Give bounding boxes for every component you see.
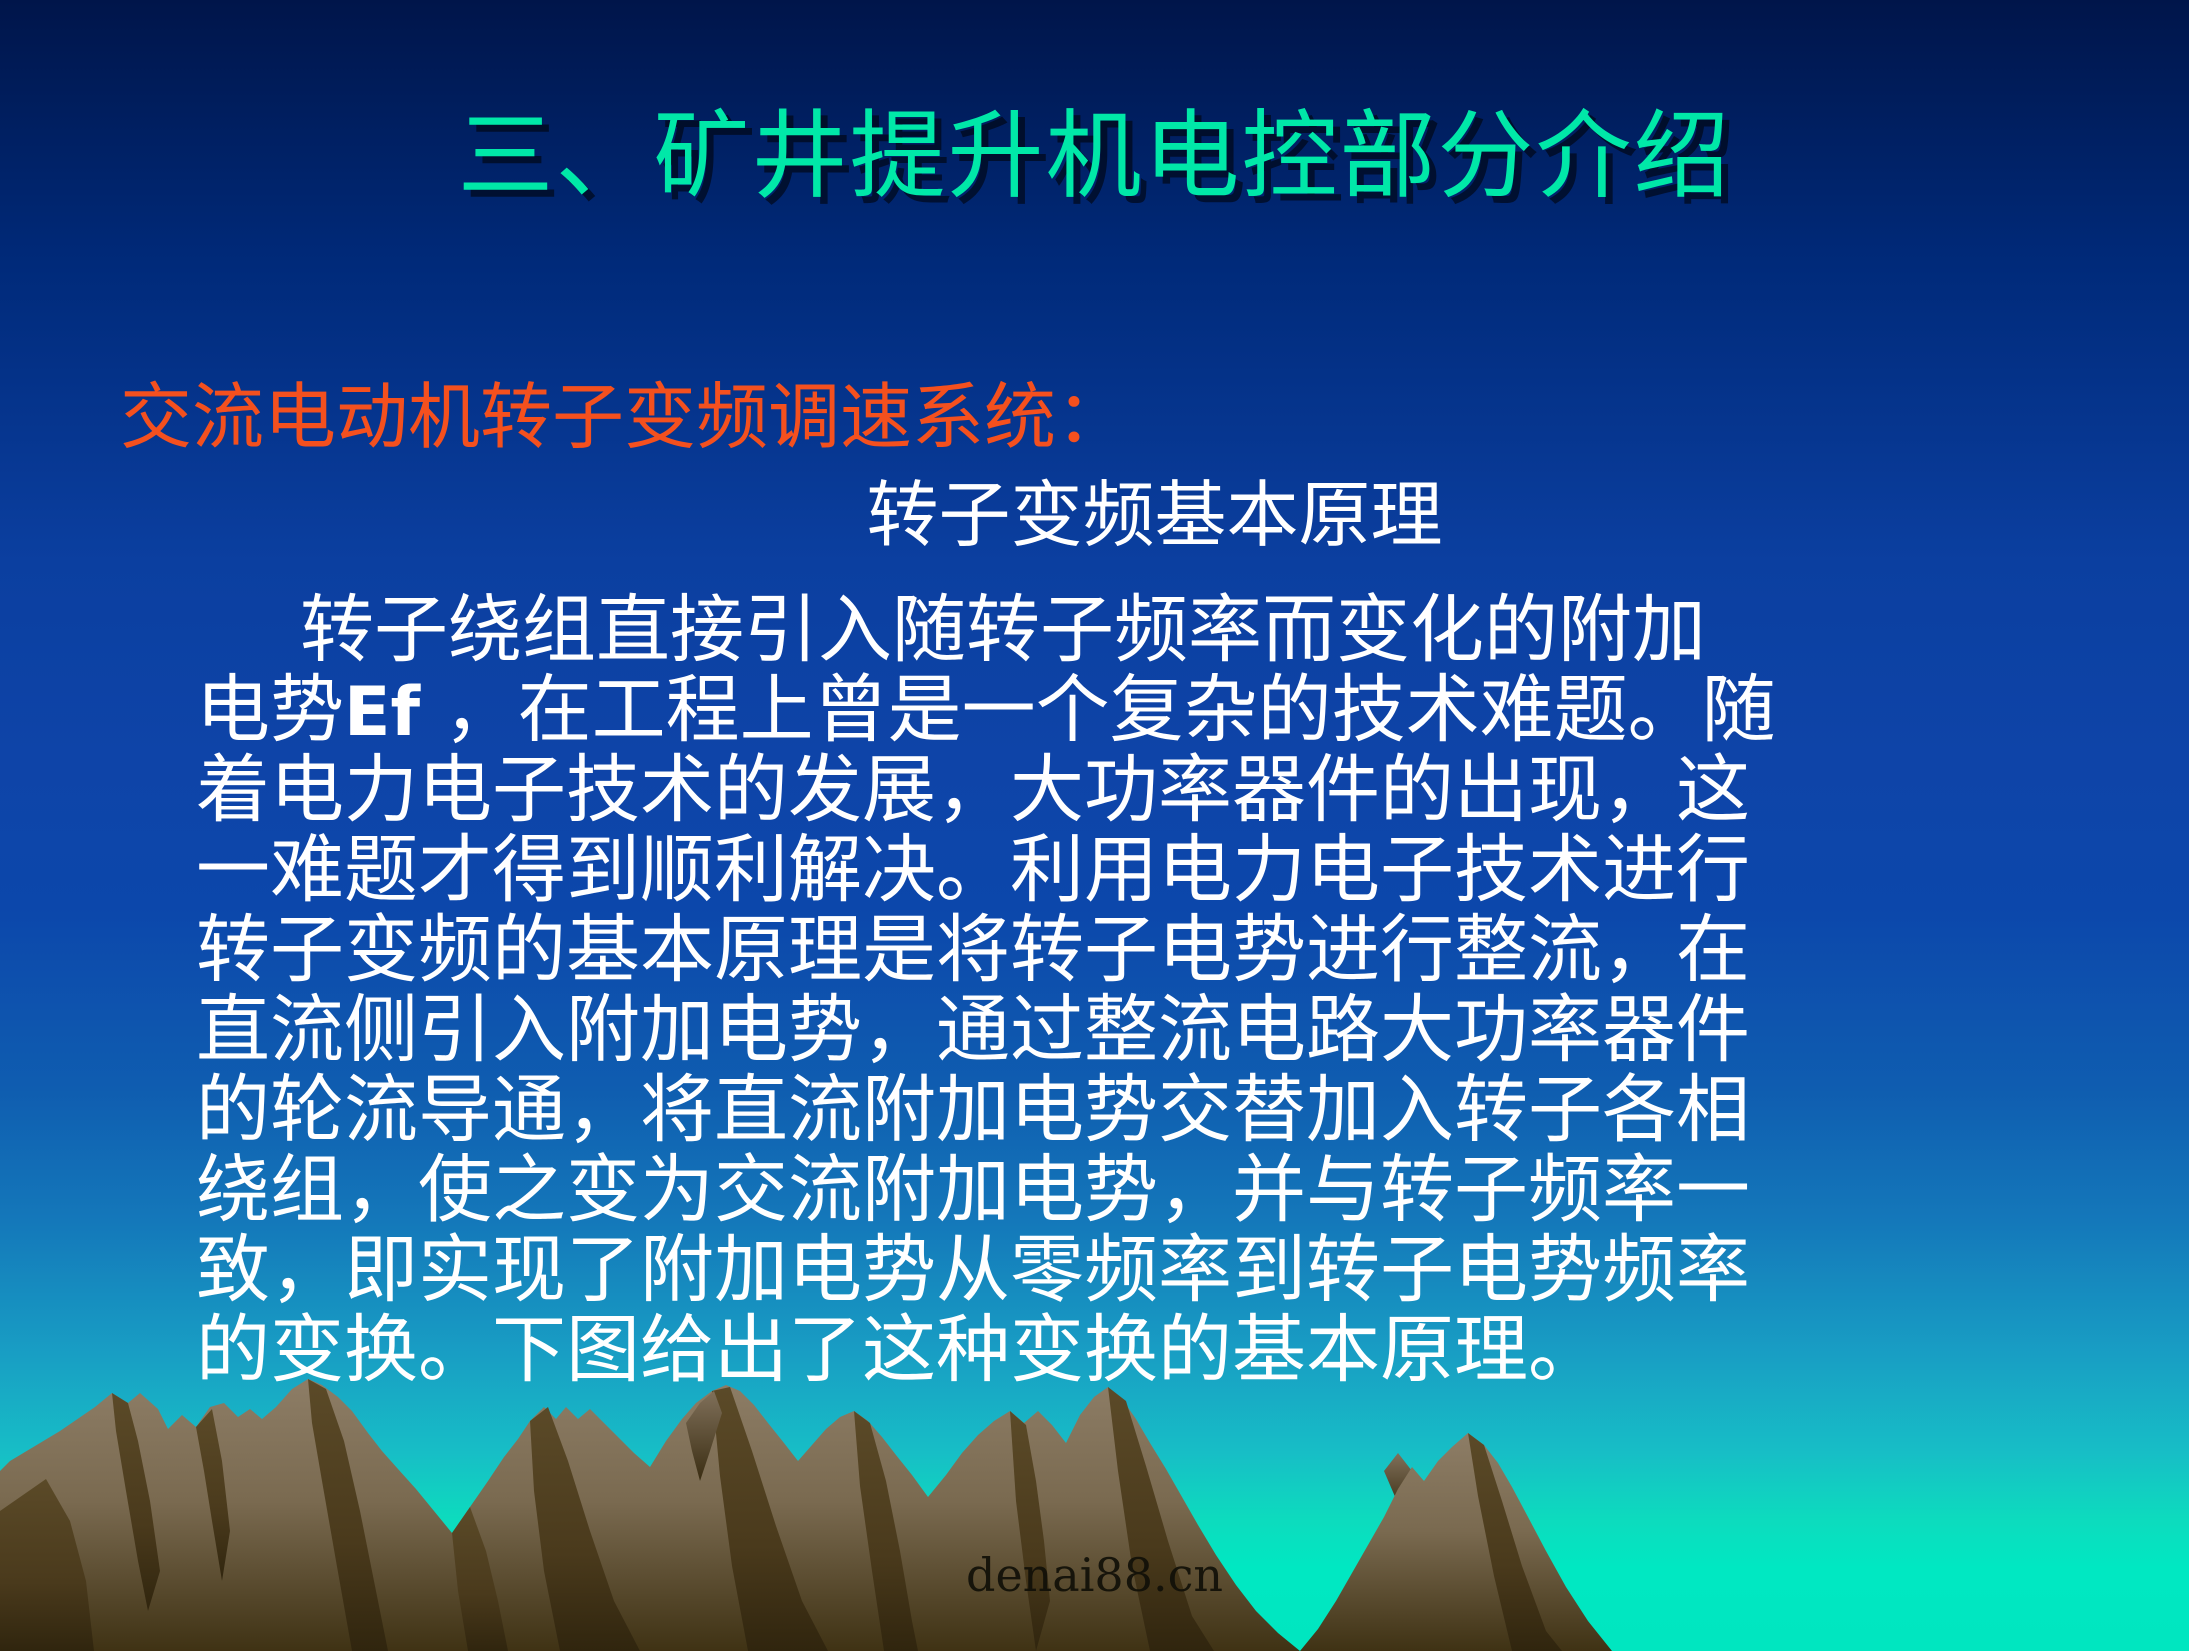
mountain-shadow-faces xyxy=(0,1379,1214,1651)
body-text-segment: 电势 xyxy=(196,667,344,753)
section-title: 转子变频基本原理 xyxy=(0,478,2189,554)
page-title: 三、矿井提升机电控部分介绍 xyxy=(0,108,2189,206)
mountain-ridge-right xyxy=(1300,1433,1612,1651)
body-line: 一难题才得到顺利解决。利用电力电子技术进行 xyxy=(196,830,2096,910)
latin-symbol-ef: Ef xyxy=(344,673,420,752)
body-line: 绕组，使之变为交流附加电势，并与转子频率一 xyxy=(196,1150,2096,1230)
body-paragraph: 转子绕组直接引入随转子频率而变化的附加 电势Ef ，在工程上曾是一个复杂的技术难… xyxy=(196,590,2096,1390)
body-line: 转子绕组直接引入随转子频率而变化的附加 xyxy=(196,590,2096,670)
body-line: 的变换。下图给出了这种变换的基本原理。 xyxy=(196,1310,2096,1390)
mountain-ridge-front xyxy=(0,1379,2189,1651)
body-line: 的轮流导通，将直流附加电势交替加入转子各相 xyxy=(196,1070,2096,1150)
body-line: 致，即实现了附加电势从零频率到转子电势频率 xyxy=(196,1230,2096,1310)
body-line-with-latin: 电势Ef ，在工程上曾是一个复杂的技术难题。随 xyxy=(196,670,2096,750)
watermark: denai88.cn xyxy=(0,1548,2189,1602)
mountain-notch-peaks xyxy=(686,1391,1412,1511)
slide-canvas: 三、矿井提升机电控部分介绍 交流电动机转子变频调速系统： 转子变频基本原理 转子… xyxy=(0,0,2189,1651)
body-line: 转子变频的基本原理是将转子电势进行整流，在 xyxy=(196,910,2096,990)
section-subheading: 交流电动机转子变频调速系统： xyxy=(120,380,1128,456)
body-line: 直流侧引入附加电势，通过整流电路大功率器件 xyxy=(196,990,2096,1070)
body-text-segment: ，在工程上曾是一个复杂的技术难题。随 xyxy=(420,667,1776,753)
body-line: 着电力电子技术的发展，大功率器件的出现，这 xyxy=(196,750,2096,830)
